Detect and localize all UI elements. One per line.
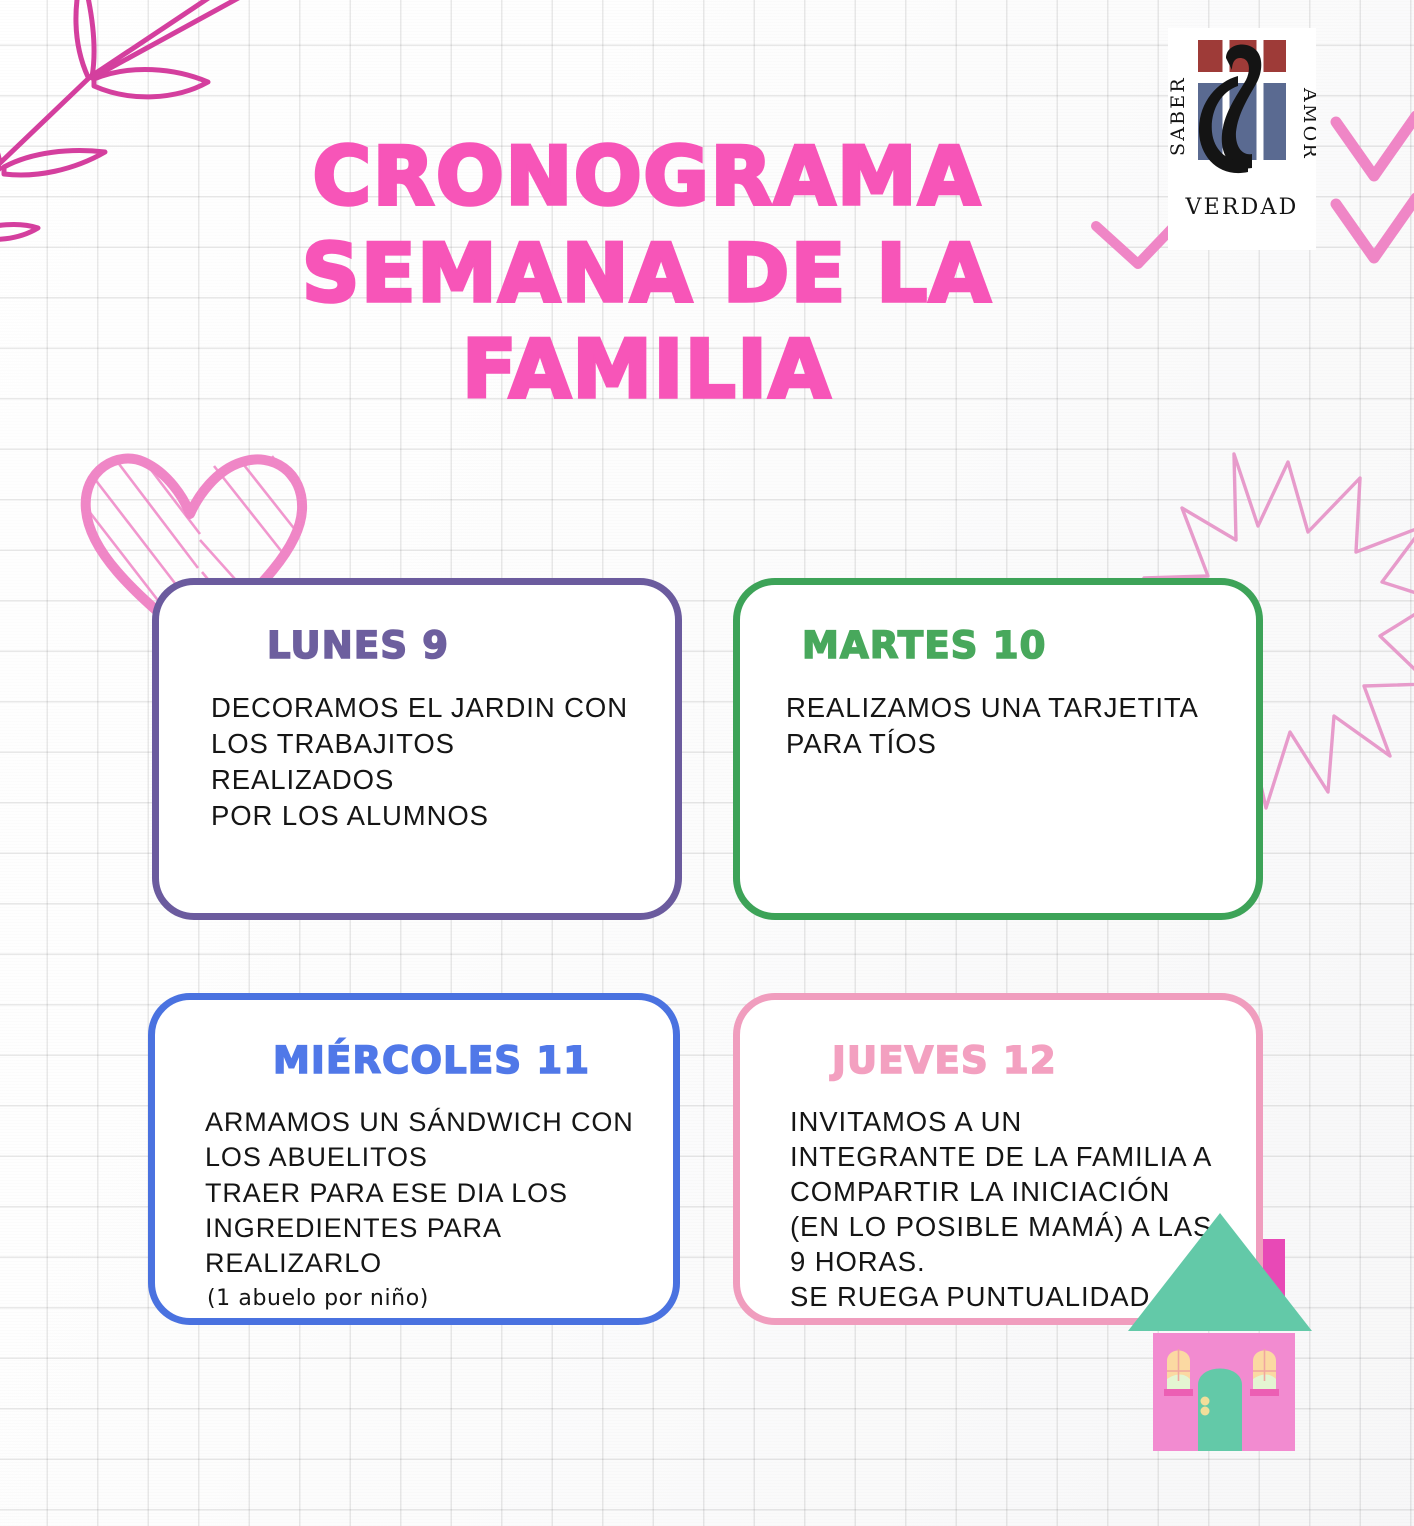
day-card-title-lunes: LUNES 9 (211, 627, 641, 664)
house-chimney (1263, 1239, 1285, 1323)
house-window-right (1250, 1349, 1279, 1396)
day-card-lunes[interactable]: LUNES 9 DECORAMOS EL JARDIN CON LOS TRAB… (152, 578, 682, 920)
day-card-note-miercoles: (1 abuelo por niño) (207, 1286, 639, 1311)
poster-canvas: SABER AMOR VERDAD CRONOGRAMA SEMANA DE L… (0, 0, 1414, 1526)
day-card-title-jueves: JUEVES 12 (792, 1042, 1222, 1079)
day-card-miercoles[interactable]: MIÉRCOLES 11 ARMAMOS UN SÁNDWICH CON LOS… (148, 993, 680, 1325)
title-line-2: SEMANA DE LA (60, 235, 1234, 313)
house-body (1153, 1333, 1295, 1451)
house-window-left (1164, 1349, 1193, 1396)
day-card-jueves[interactable]: JUEVES 12 INVITAMOS A UN INTEGRANTE DE L… (733, 993, 1263, 1325)
day-card-body-jueves: INVITAMOS A UN INTEGRANTE DE LA FAMILIA … (790, 1105, 1222, 1315)
house-door-handle-lower (1201, 1407, 1210, 1416)
day-card-title-martes: MARTES 10 (792, 627, 1222, 664)
day-card-martes[interactable]: MARTES 10 REALIZAMOS UNA TARJETITA PARA … (733, 578, 1263, 920)
house-door-handle (1201, 1397, 1210, 1406)
page-title: CRONOGRAMA SEMANA DE LA FAMILIA (0, 138, 1414, 409)
title-line-1: CRONOGRAMA (60, 138, 1234, 216)
day-card-body-miercoles: ARMAMOS UN SÁNDWICH CON LOS ABUELITOS TR… (205, 1105, 639, 1282)
day-card-body-lunes: DECORAMOS EL JARDIN CON LOS TRABAJITOS R… (211, 690, 641, 834)
title-line-3: FAMILIA (60, 331, 1234, 409)
day-card-body-martes: REALIZAMOS UNA TARJETITA PARA TÍOS (786, 690, 1222, 762)
house-door (1198, 1369, 1242, 1452)
day-card-title-miercoles: MIÉRCOLES 11 (207, 1042, 639, 1079)
